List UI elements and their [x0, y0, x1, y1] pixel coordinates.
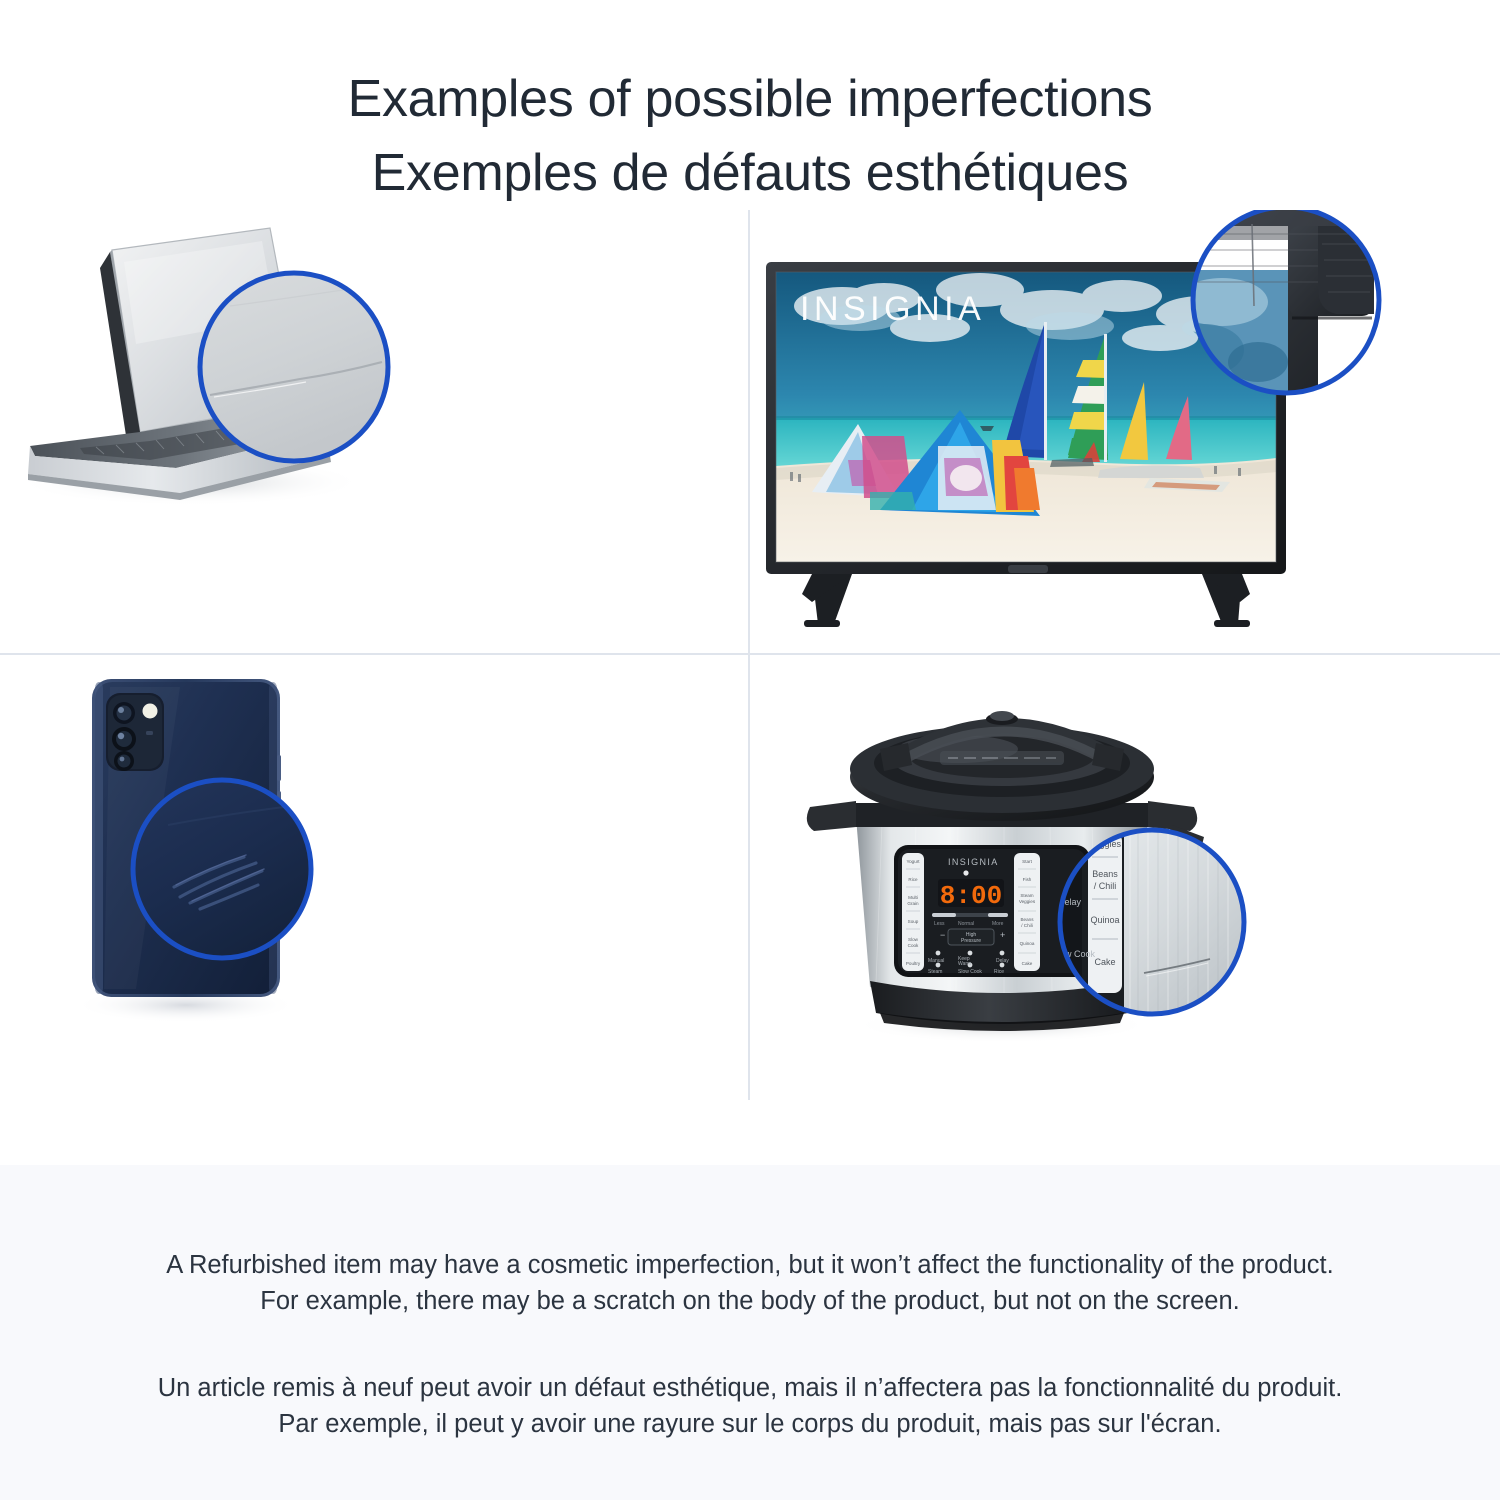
tv-stand [802, 574, 1250, 627]
disclaimer-panel: A Refurbished item may have a cosmetic i… [0, 1165, 1500, 1500]
cooker-steam-valve [986, 711, 1018, 725]
svg-text:Slow: Slow [908, 937, 919, 942]
svg-text:Quinoa: Quinoa [1020, 941, 1035, 946]
svg-text:+: + [1000, 930, 1005, 940]
tv-logo-nub [1008, 565, 1048, 573]
tile-television: INSIGNIA [752, 210, 1500, 653]
cooker-brand-wordmark: INSIGNIA [948, 857, 999, 867]
svg-text:/ Chili: / Chili [1094, 881, 1117, 891]
svg-text:Less: Less [934, 921, 945, 927]
television-illustration: INSIGNIA [752, 210, 1500, 653]
svg-text:More: More [992, 921, 1004, 927]
magnifier-laptop-scratch [200, 273, 388, 461]
cooker-display: 8:00 [938, 879, 1004, 911]
phone-camera-module [106, 693, 164, 771]
svg-text:Beans: Beans [1020, 917, 1034, 922]
camera-flash-icon [143, 704, 158, 719]
tile-pressure-cooker: INSIGNIA 8:00 Less Normal More [752, 657, 1500, 1100]
svg-text:Cake: Cake [1022, 961, 1033, 966]
tile-laptop [0, 210, 748, 653]
svg-text:/ Chili: / Chili [1021, 923, 1033, 928]
svg-text:−: − [940, 930, 945, 940]
disclaimer-english: A Refurbished item may have a cosmetic i… [150, 1191, 1350, 1319]
tv-brand-wordmark: INSIGNIA [800, 290, 985, 328]
cooker-btn-fish: Fish [1023, 877, 1032, 882]
svg-text:Poultry: Poultry [906, 961, 921, 966]
laptop-illustration [0, 210, 748, 653]
cooker-btn-start: Start [1022, 859, 1032, 864]
page-title-english: Examples of possible imperfections [0, 62, 1500, 136]
svg-text:Normal: Normal [958, 921, 974, 927]
svg-text:Pressure: Pressure [961, 938, 981, 944]
svg-text:Rice: Rice [908, 877, 918, 882]
tile-smartphone [0, 657, 748, 1100]
smartphone-illustration [0, 657, 748, 1100]
svg-text:Cake: Cake [1094, 957, 1115, 967]
svg-text:Slow Cook: Slow Cook [958, 969, 982, 975]
svg-text:Cook: Cook [908, 943, 919, 948]
magnifier-phone-scratches [133, 780, 311, 958]
svg-text:Grain: Grain [907, 901, 919, 906]
product-examples-grid: INSIGNIA [0, 210, 1500, 1100]
page-title-french: Exemples de défauts esthétiques [0, 136, 1500, 210]
pressure-cooker-illustration: INSIGNIA 8:00 Less Normal More [752, 657, 1500, 1100]
svg-text:Yogurt: Yogurt [906, 859, 920, 864]
svg-text:Delay: Delay [996, 958, 1009, 964]
svg-text:Rice: Rice [994, 969, 1004, 975]
disclaimer-french: Un article remis à neuf peut avoir un dé… [150, 1344, 1350, 1442]
cooker-left-buttons[interactable]: Yogurt Rice Multi Grain Soup Slow Cook P… [902, 853, 924, 971]
cooker-lid-label [940, 751, 1064, 765]
svg-text:Beans: Beans [1092, 869, 1118, 879]
grid-vertical-divider [748, 210, 750, 1100]
svg-text:Quinoa: Quinoa [1090, 915, 1119, 925]
svg-text:Manual: Manual [928, 958, 944, 964]
svg-text:Steam: Steam [928, 969, 942, 975]
svg-text:Steam: Steam [1020, 893, 1033, 898]
page-header: Examples of possible imperfections Exemp… [0, 0, 1500, 210]
svg-text:Multi: Multi [908, 895, 918, 900]
cooker-right-buttons[interactable]: Start Fish Steam Veggies Beans / Chili Q… [1014, 853, 1040, 971]
svg-text:Soup: Soup [908, 919, 919, 924]
led-indicator [963, 870, 968, 875]
svg-text:Veggies: Veggies [1019, 899, 1036, 904]
cooker-display-value: 8:00 [940, 881, 1002, 911]
svg-text:Warm: Warm [958, 961, 971, 967]
cooker-lid [850, 725, 1154, 821]
grid-horizontal-divider [0, 653, 1500, 655]
